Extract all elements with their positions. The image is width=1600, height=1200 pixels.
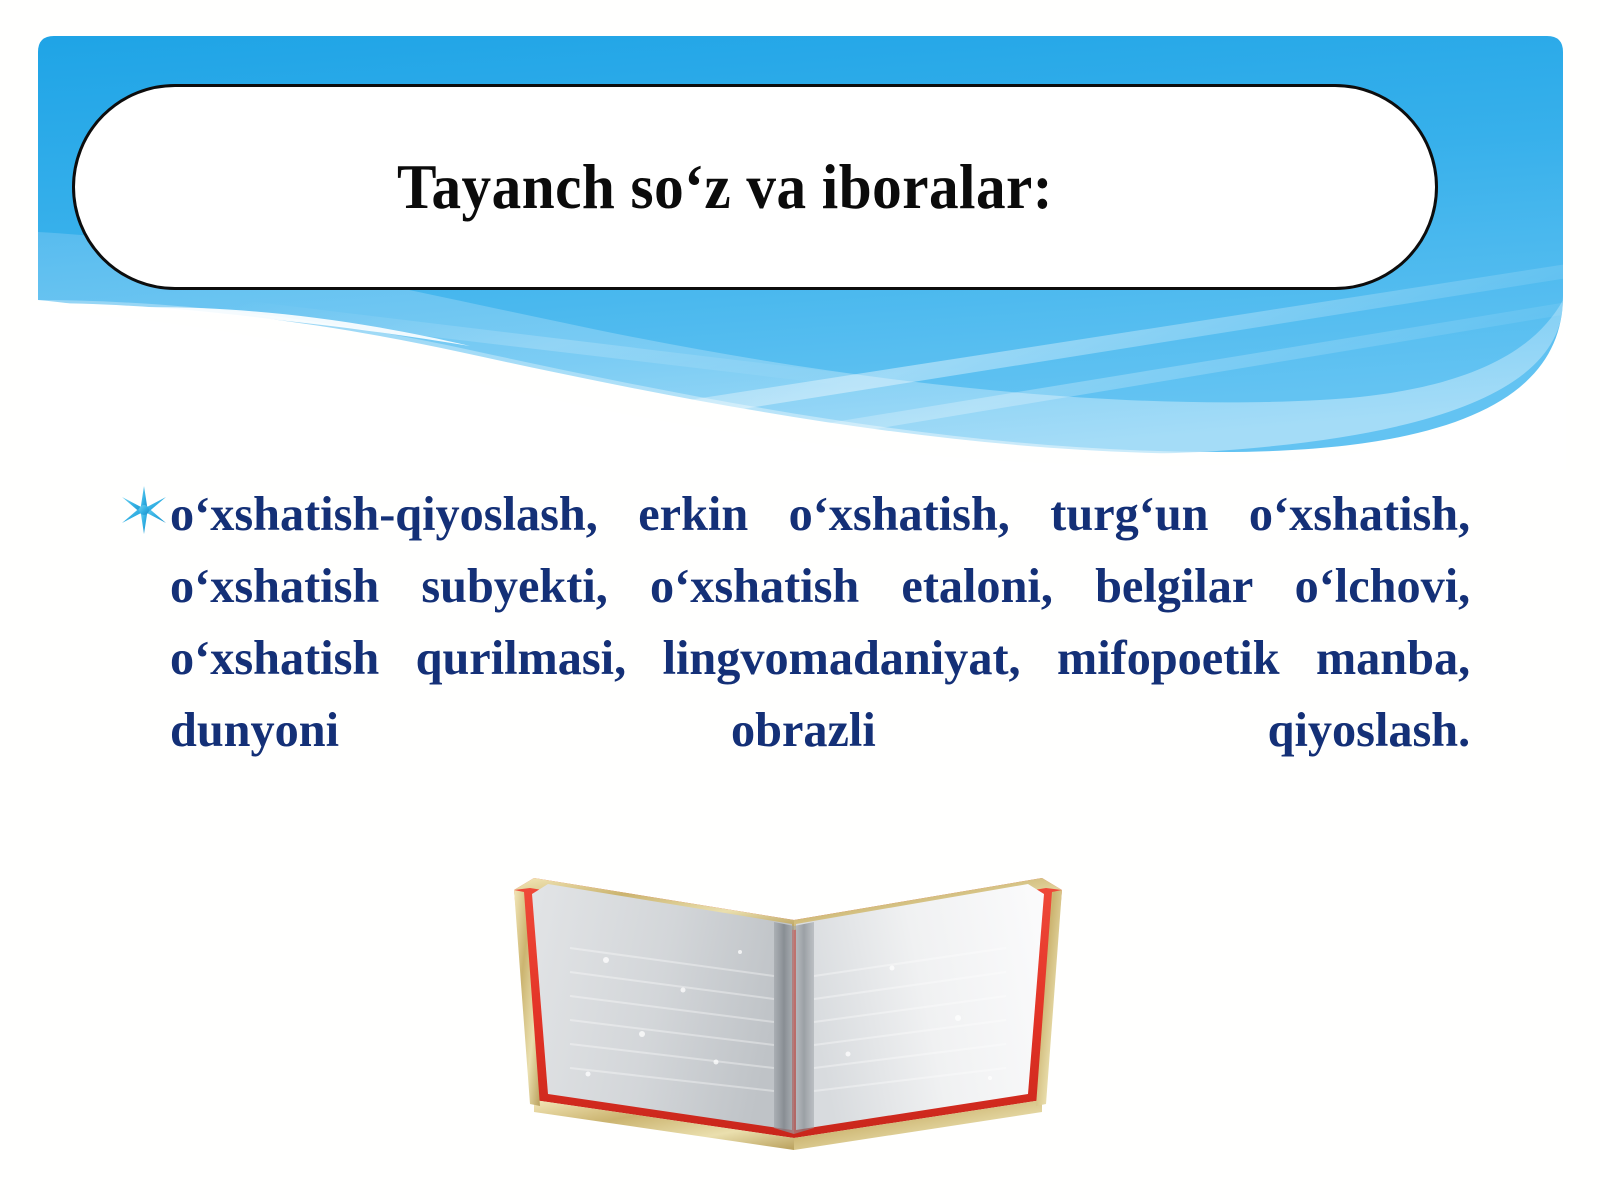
open-book-icon [478,838,1098,1158]
page-title: Tayanch so‘z va iboralar: [397,156,1053,219]
six-pointed-star-icon [118,484,170,536]
keyword-list-text: o‘xshatish-qiyoslash, erkin o‘xshatish, … [170,478,1470,838]
banner-streaks [240,262,1580,458]
content-bullet-item: o‘xshatish-qiyoslash, erkin o‘xshatish, … [118,478,1490,838]
slide-canvas: Tayanch so‘z va iboralar: [0,0,1600,1200]
title-pill-shape: Tayanch so‘z va iboralar: [72,84,1438,290]
banner-wave-white [30,306,1566,470]
